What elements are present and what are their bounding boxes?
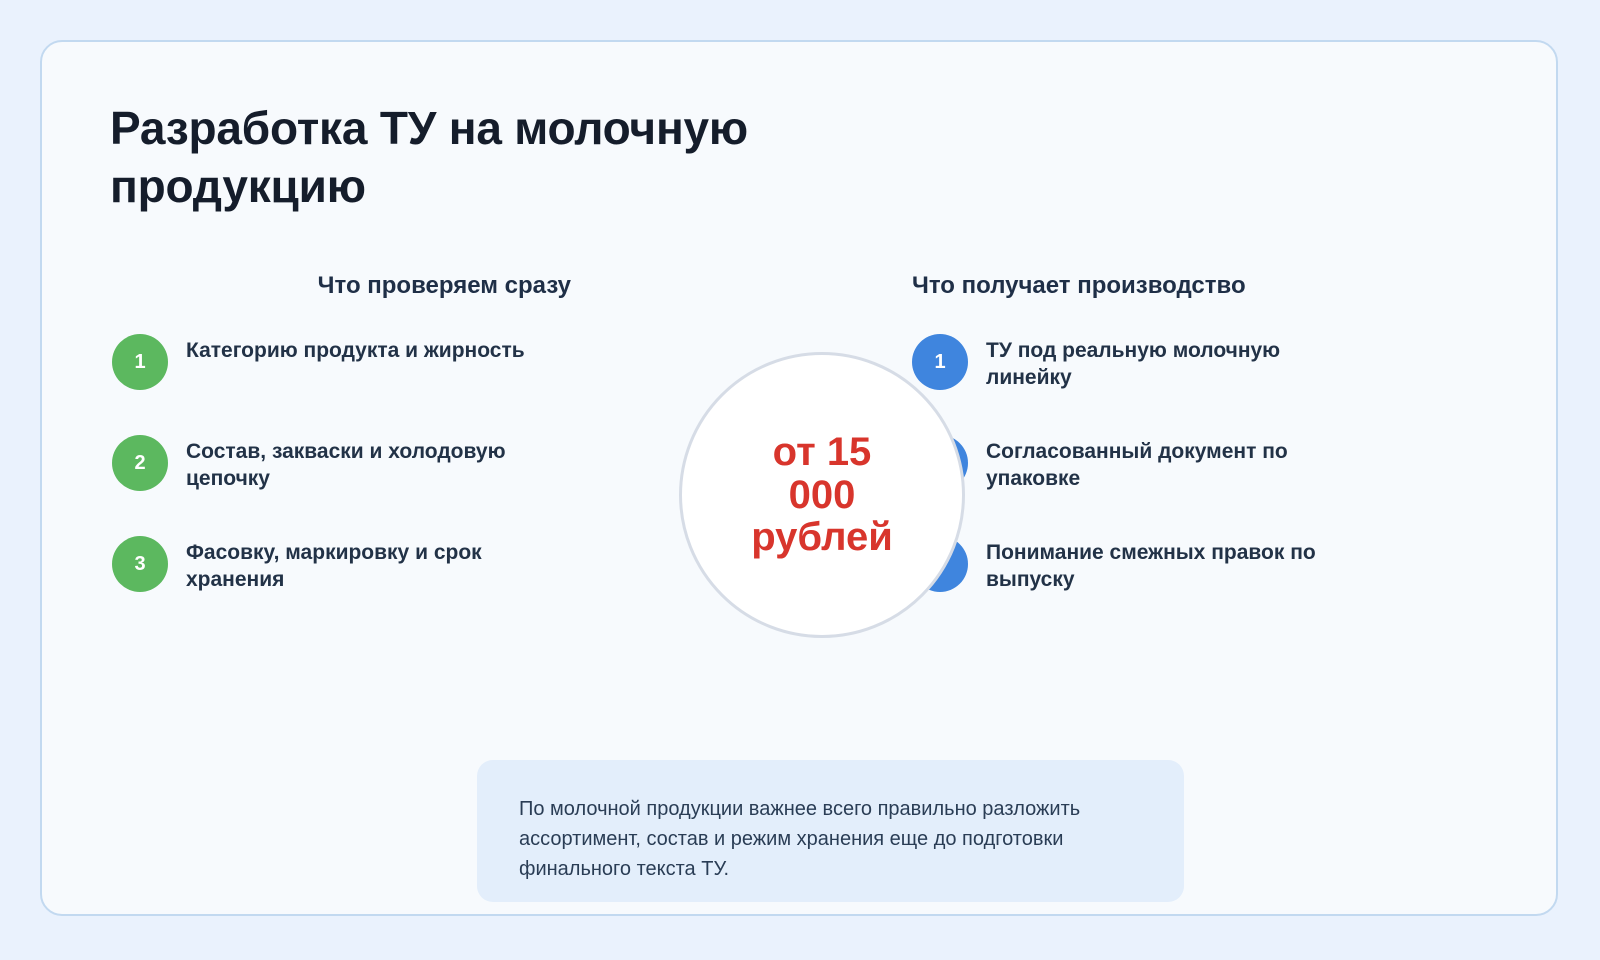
price-label: от 15 000 рублей: [737, 431, 907, 558]
page-title: Разработка ТУ на молочную продукцию: [110, 100, 810, 216]
main-card: Разработка ТУ на молочную продукцию Что …: [40, 40, 1558, 916]
left-column: Что проверяем сразу 1 Категорию продукта…: [112, 272, 572, 597]
list-item-label: ТУ под реальную молочную линейку: [986, 333, 1356, 392]
list-item-label: Согласованный документ по упаковке: [986, 434, 1356, 493]
list-item: 2 Состав, закваски и холодовую цепочку: [112, 434, 572, 496]
step-number-badge: 1: [912, 334, 968, 390]
step-number-badge: 1: [112, 334, 168, 390]
list-item: 3 Фасовку, маркировку и срок хранения: [112, 535, 572, 597]
list-item-label: Фасовку, маркировку и срок хранения: [186, 535, 556, 594]
right-column-heading: Что получает производство: [912, 272, 1372, 301]
left-column-heading: Что проверяем сразу: [112, 272, 572, 301]
right-column: Что получает производство 1 ТУ под реаль…: [912, 272, 1372, 597]
list-item-label: Состав, закваски и холодовую цепочку: [186, 434, 556, 493]
list-item-label: Понимание смежных правок по выпуску: [986, 535, 1356, 594]
note-text: По молочной продукции важнее всего прави…: [519, 794, 1139, 884]
list-item-label: Категорию продукта и жирность: [186, 333, 525, 365]
list-item: 1 Категорию продукта и жирность: [112, 333, 572, 395]
list-item: 3 Понимание смежных правок по выпуску: [912, 535, 1372, 597]
step-number-badge: 2: [112, 435, 168, 491]
list-item: 2 Согласованный документ по упаковке: [912, 434, 1372, 496]
price-circle: от 15 000 рублей: [679, 352, 965, 638]
step-number-badge: 3: [112, 536, 168, 592]
list-item: 1 ТУ под реальную молочную линейку: [912, 333, 1372, 395]
note-box: По молочной продукции важнее всего прави…: [477, 760, 1184, 902]
